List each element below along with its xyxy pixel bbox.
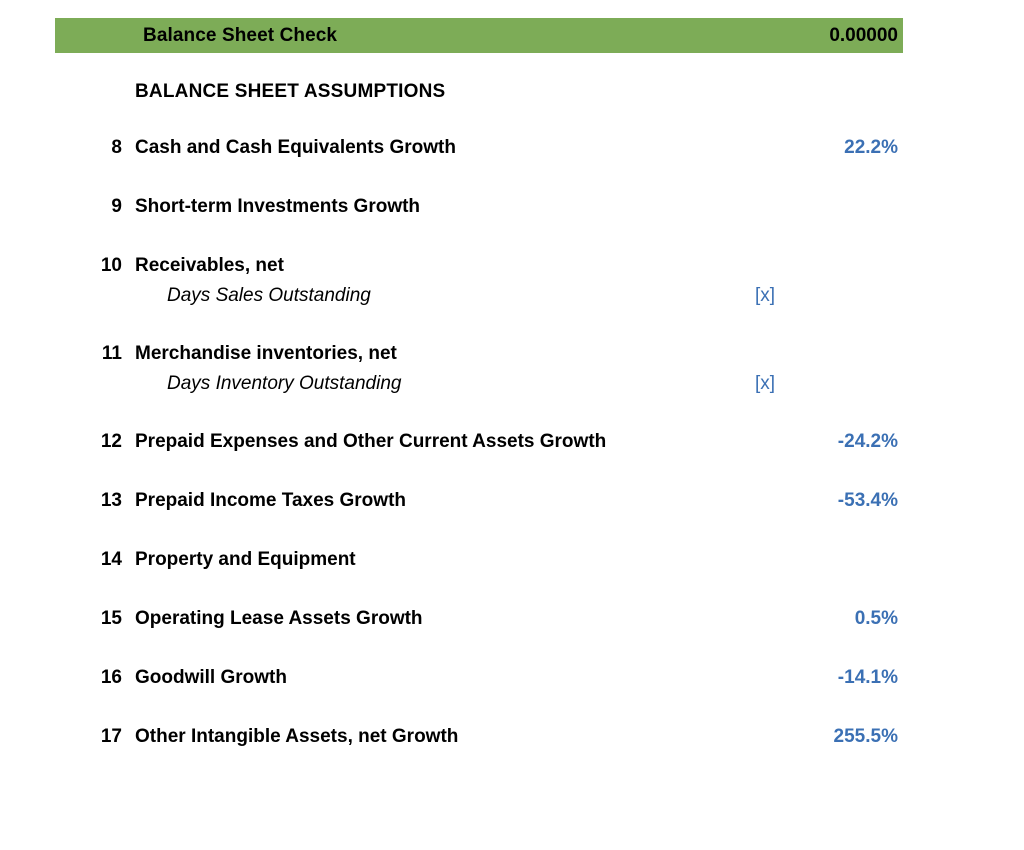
row-label: Short-term Investments Growth xyxy=(135,192,420,222)
assumption-row-8[interactable]: 8 Cash and Cash Equivalents Growth 22.2% xyxy=(0,133,1024,192)
balance-sheet-check-label: Balance Sheet Check xyxy=(143,25,337,47)
row-label: Operating Lease Assets Growth xyxy=(135,604,423,634)
row-label: Cash and Cash Equivalents Growth xyxy=(135,133,456,163)
section-heading-balance-sheet-assumptions: BALANCE SHEET ASSUMPTIONS xyxy=(135,81,445,103)
balance-sheet-check-value: 0.00000 xyxy=(829,25,898,47)
row-label: Receivables, net xyxy=(135,251,284,281)
assumption-sub-row: Days Inventory Outstanding [x] xyxy=(0,369,1024,398)
row-number: 13 xyxy=(60,486,122,516)
assumption-row-main: 15 Operating Lease Assets Growth 0.5% xyxy=(0,604,1024,634)
assumption-row-13[interactable]: 13 Prepaid Income Taxes Growth -53.4% xyxy=(0,486,1024,545)
row-value[interactable]: 0.5% xyxy=(620,604,898,634)
row-value[interactable]: 255.5% xyxy=(620,722,898,752)
assumptions-row-list: 8 Cash and Cash Equivalents Growth 22.2%… xyxy=(0,133,1024,781)
row-value[interactable]: -53.4% xyxy=(620,486,898,516)
row-number: 14 xyxy=(60,545,122,575)
assumption-row-main: 8 Cash and Cash Equivalents Growth 22.2% xyxy=(0,133,1024,163)
assumption-row-main: 17 Other Intangible Assets, net Growth 2… xyxy=(0,722,1024,752)
assumption-row-main: 13 Prepaid Income Taxes Growth -53.4% xyxy=(0,486,1024,516)
row-number: 12 xyxy=(60,427,122,457)
row-value[interactable]: 22.2% xyxy=(620,133,898,163)
assumption-row-main: 11 Merchandise inventories, net xyxy=(0,339,1024,369)
row-label: Goodwill Growth xyxy=(135,663,287,693)
row-label: Other Intangible Assets, net Growth xyxy=(135,722,458,752)
row-number: 8 xyxy=(60,133,122,163)
assumption-row-main: 14 Property and Equipment xyxy=(0,545,1024,575)
assumption-row-main: 10 Receivables, net xyxy=(0,251,1024,281)
row-number: 10 xyxy=(60,251,122,281)
assumption-row-11[interactable]: 11 Merchandise inventories, net Days Inv… xyxy=(0,339,1024,427)
row-number: 11 xyxy=(60,339,122,369)
row-number: 9 xyxy=(60,192,122,222)
sub-row-label: Days Sales Outstanding xyxy=(167,281,371,310)
assumption-row-9[interactable]: 9 Short-term Investments Growth xyxy=(0,192,1024,251)
assumption-sub-row: Days Sales Outstanding [x] xyxy=(0,281,1024,310)
row-label: Property and Equipment xyxy=(135,545,356,575)
assumption-row-12[interactable]: 12 Prepaid Expenses and Other Current As… xyxy=(0,427,1024,486)
row-value[interactable]: -14.1% xyxy=(620,663,898,693)
row-number: 15 xyxy=(60,604,122,634)
assumption-row-17[interactable]: 17 Other Intangible Assets, net Growth 2… xyxy=(0,722,1024,781)
sub-row-value[interactable]: [x] xyxy=(620,369,775,398)
row-number: 16 xyxy=(60,663,122,693)
row-label: Prepaid Income Taxes Growth xyxy=(135,486,406,516)
row-number: 17 xyxy=(60,722,122,752)
balance-sheet-check-bar: Balance Sheet Check 0.00000 xyxy=(55,18,903,53)
row-label: Prepaid Expenses and Other Current Asset… xyxy=(135,427,606,457)
assumption-row-main: 9 Short-term Investments Growth xyxy=(0,192,1024,222)
assumption-row-10[interactable]: 10 Receivables, net Days Sales Outstandi… xyxy=(0,251,1024,339)
row-value[interactable]: -24.2% xyxy=(620,427,898,457)
sub-row-value[interactable]: [x] xyxy=(620,281,775,310)
assumption-row-14[interactable]: 14 Property and Equipment xyxy=(0,545,1024,604)
assumption-row-main: 12 Prepaid Expenses and Other Current As… xyxy=(0,427,1024,457)
assumption-row-15[interactable]: 15 Operating Lease Assets Growth 0.5% xyxy=(0,604,1024,663)
row-label: Merchandise inventories, net xyxy=(135,339,397,369)
assumption-row-main: 16 Goodwill Growth -14.1% xyxy=(0,663,1024,693)
sub-row-label: Days Inventory Outstanding xyxy=(167,369,401,398)
assumption-row-16[interactable]: 16 Goodwill Growth -14.1% xyxy=(0,663,1024,722)
